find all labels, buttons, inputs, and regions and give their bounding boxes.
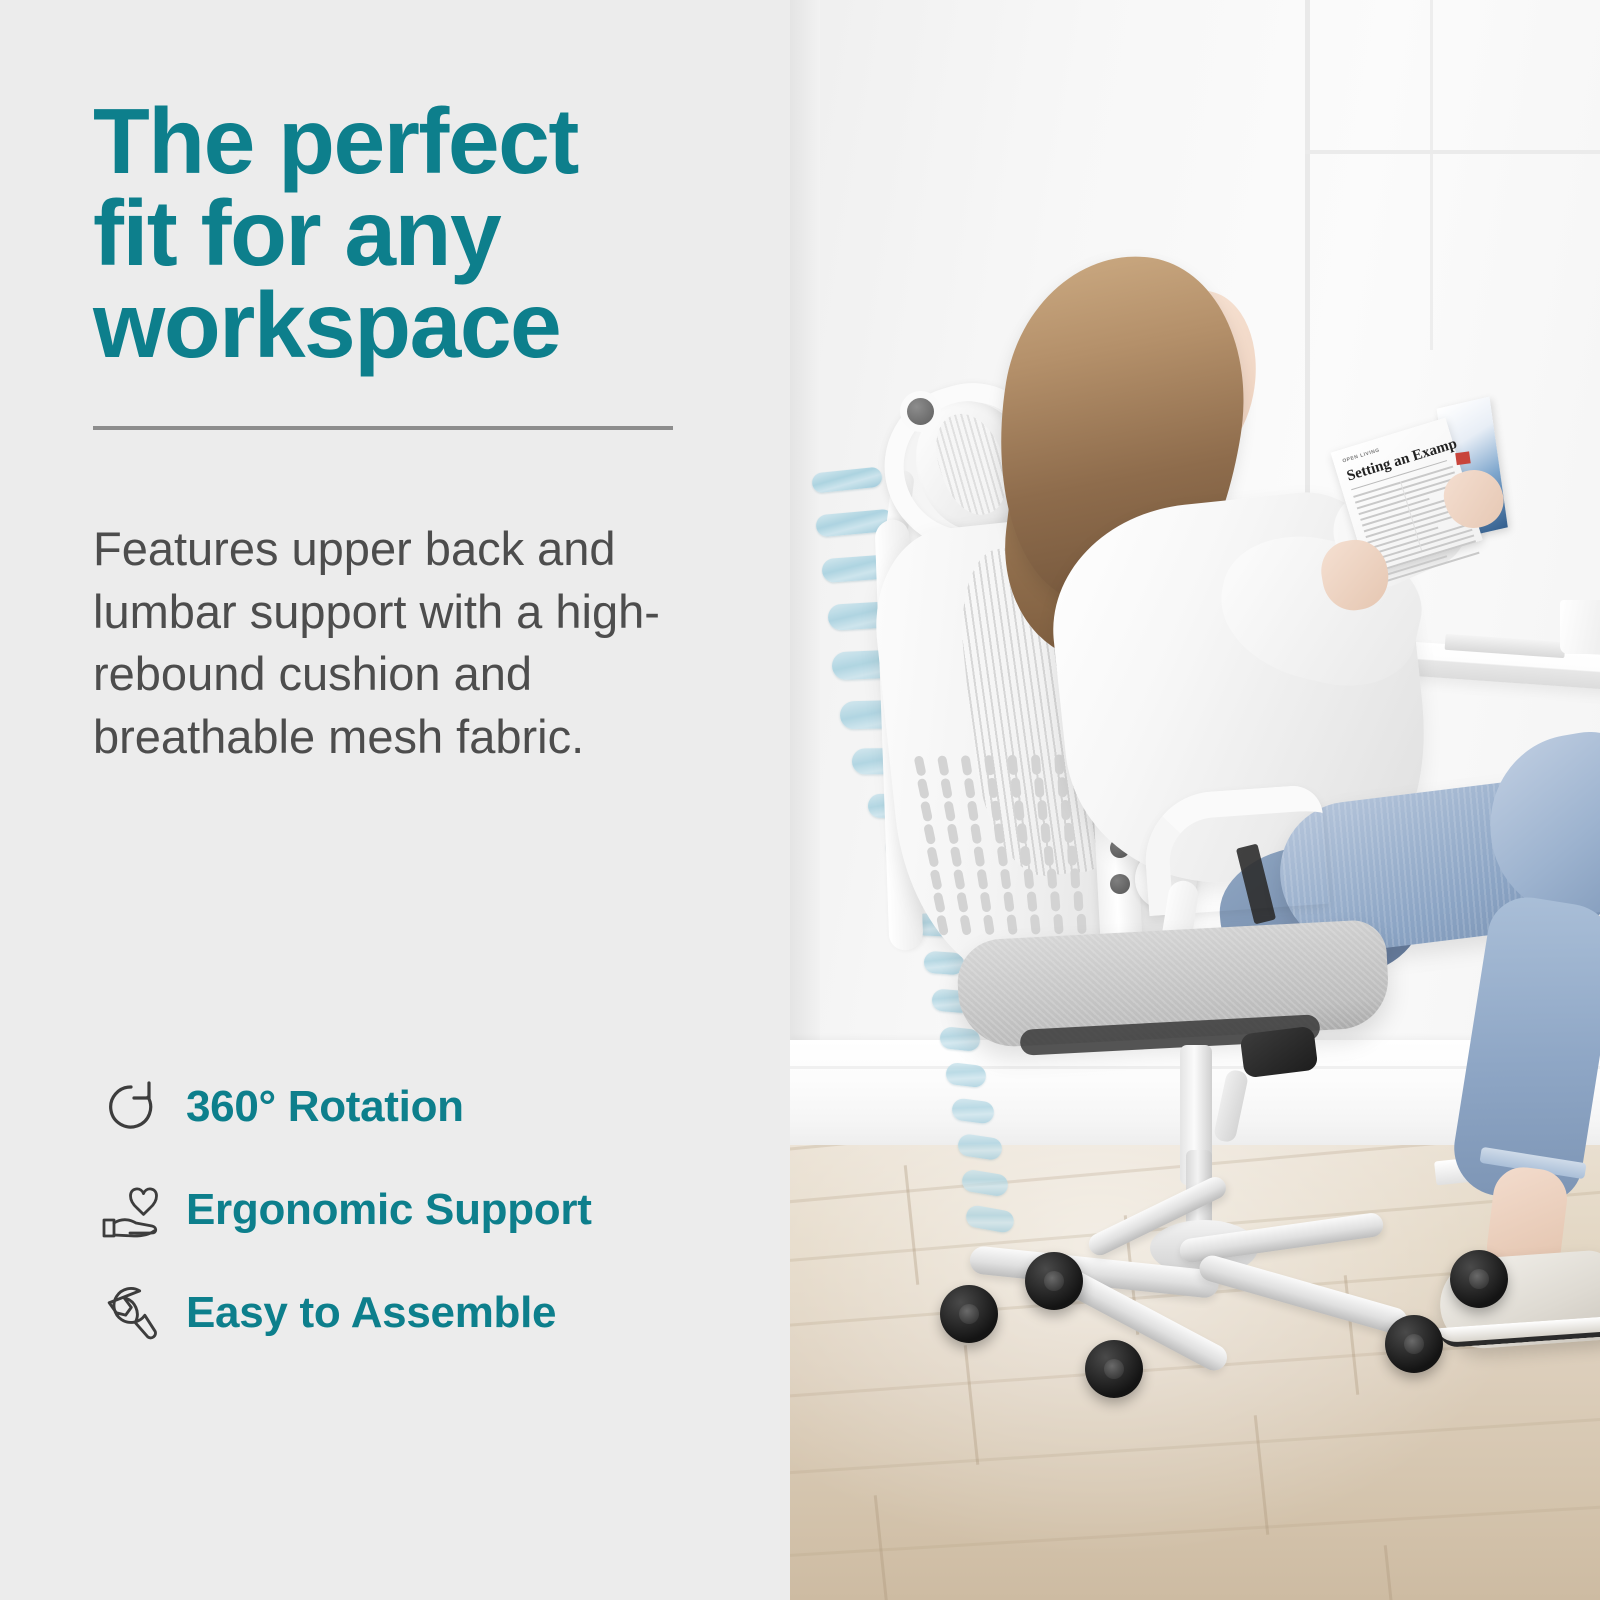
product-feature-page: The perfectfit for anyworkspace Features… — [0, 0, 1600, 1600]
feature-label-rotation: 360° Rotation — [186, 1082, 464, 1132]
height-adjust-lever — [1213, 1068, 1249, 1143]
feature-label-assemble: Easy to Assemble — [186, 1288, 556, 1338]
headline-line-3: workspace — [93, 273, 560, 377]
caster-hub — [959, 1304, 979, 1324]
caster-wheel — [1085, 1340, 1143, 1398]
base-leg — [1196, 1253, 1410, 1337]
office-chair-foreground — [790, 0, 1600, 1600]
feature-row-rotation: 360° Rotation — [100, 1055, 592, 1158]
product-photo: OPEN LIVING Setting an Examp — [790, 0, 1600, 1600]
headline-line-1: The perfect — [93, 89, 578, 193]
caster-hub — [1104, 1359, 1124, 1379]
caster-hub — [1044, 1271, 1064, 1291]
page-title: The perfectfit for anyworkspace — [93, 95, 693, 371]
feature-row-assemble: Easy to Assemble — [100, 1261, 592, 1364]
body-copy: Features upper back and lumbar support w… — [93, 518, 703, 768]
left-text-panel: The perfectfit for anyworkspace Features… — [0, 0, 790, 1600]
hand-heart-icon — [100, 1179, 174, 1241]
headline-line-2: fit for any — [93, 181, 500, 285]
headline-divider — [93, 426, 673, 430]
caster-hub — [1469, 1269, 1489, 1289]
caster-hub — [1404, 1334, 1424, 1354]
caster-wheel — [1025, 1252, 1083, 1310]
caster-wheel — [940, 1285, 998, 1343]
rotate-clockwise-icon — [100, 1076, 174, 1138]
feature-label-ergonomic: Ergonomic Support — [186, 1185, 592, 1235]
wrench-icon — [100, 1281, 174, 1345]
feature-row-ergonomic: Ergonomic Support — [100, 1158, 592, 1261]
tilt-lever — [1240, 1026, 1319, 1079]
caster-wheel — [1450, 1250, 1508, 1308]
caster-wheel — [1385, 1315, 1443, 1373]
feature-list: 360° Rotation Ergonomic Support — [100, 1055, 592, 1364]
